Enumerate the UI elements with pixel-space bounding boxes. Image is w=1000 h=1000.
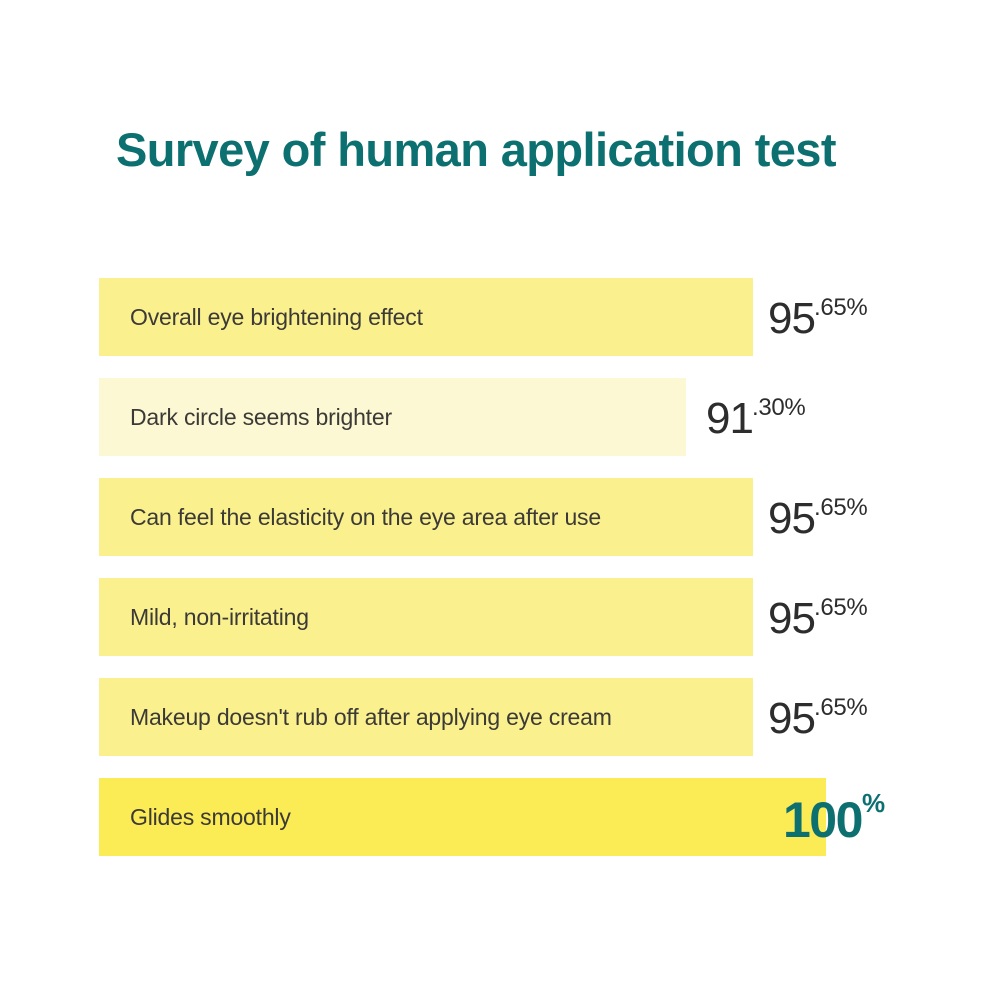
bar-value-fraction: % <box>862 790 885 816</box>
bar-chart: Overall eye brightening effect95.65%Dark… <box>0 278 1000 878</box>
bar-label: Can feel the elasticity on the eye area … <box>130 478 601 556</box>
bar-value-fraction: .65% <box>814 496 868 520</box>
bar-value-main: 95 <box>768 697 815 741</box>
bar-value: 95.65% <box>768 478 868 556</box>
bar-value-main: 100 <box>783 795 862 845</box>
bar-value-main: 95 <box>768 497 815 541</box>
bar-value: 95.65% <box>768 278 868 356</box>
bar-value: 95.65% <box>768 678 868 756</box>
bar-row: Dark circle seems brighter91.30% <box>0 378 1000 456</box>
bar-value-fraction: .65% <box>814 696 868 720</box>
bar-value-main: 95 <box>768 597 815 641</box>
bar-value-fraction: .65% <box>814 296 868 320</box>
bar-row: Mild, non-irritating95.65% <box>0 578 1000 656</box>
bar-value: 91.30% <box>706 378 806 456</box>
bar-value-fraction: .30% <box>752 396 806 420</box>
bar-row: Makeup doesn't rub off after applying ey… <box>0 678 1000 756</box>
bar-row: Glides smoothly100% <box>0 778 1000 856</box>
bar-label: Dark circle seems brighter <box>130 378 392 456</box>
bar-label: Makeup doesn't rub off after applying ey… <box>130 678 612 756</box>
bar-value-main: 95 <box>768 297 815 341</box>
survey-infographic: Survey of human application test Overall… <box>0 0 1000 1000</box>
bar-value-fraction: .65% <box>814 596 868 620</box>
bar-value: 100% <box>783 778 885 856</box>
bar-value-main: 91 <box>706 397 753 441</box>
bar-label: Glides smoothly <box>130 778 291 856</box>
bar-row: Can feel the elasticity on the eye area … <box>0 478 1000 556</box>
bar-label: Overall eye brightening effect <box>130 278 423 356</box>
bar-value: 95.65% <box>768 578 868 656</box>
bar-row: Overall eye brightening effect95.65% <box>0 278 1000 356</box>
page-title: Survey of human application test <box>116 122 836 177</box>
bar-label: Mild, non-irritating <box>130 578 309 656</box>
